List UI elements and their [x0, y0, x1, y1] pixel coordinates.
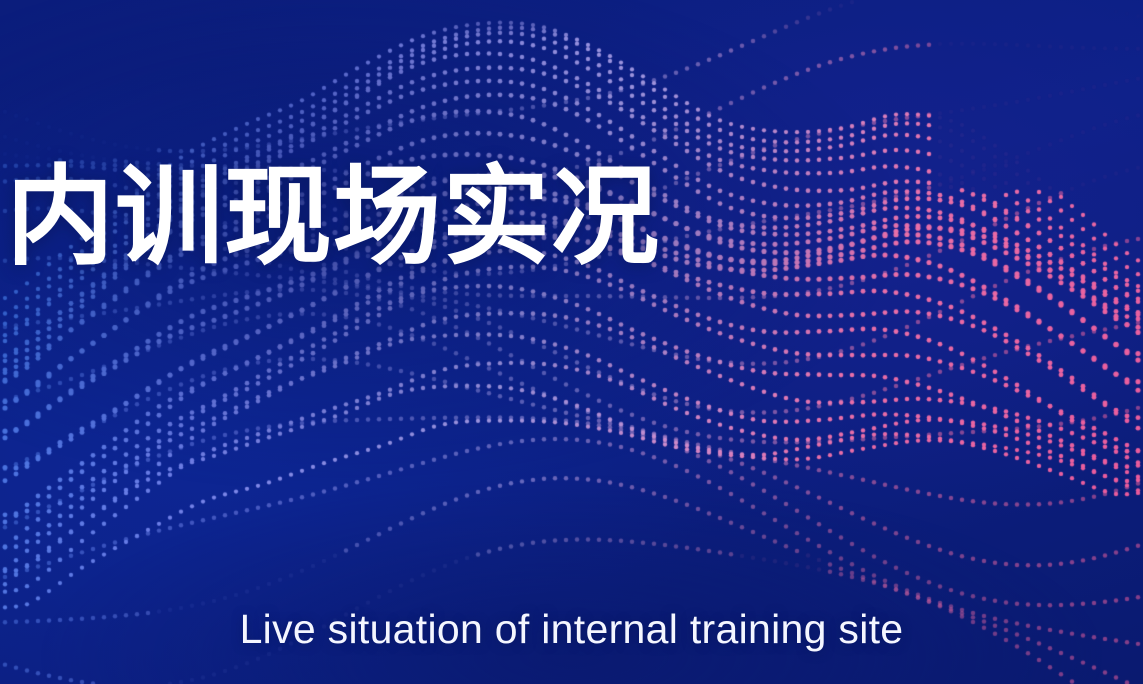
banner-hero: 内训现场实况 Live situation of internal traini… [0, 0, 1143, 684]
dotted-wave-graphic [0, 0, 1143, 684]
page-title: 内训现场实况 [6, 160, 660, 274]
page-subtitle: Live situation of internal training site [0, 606, 1143, 653]
